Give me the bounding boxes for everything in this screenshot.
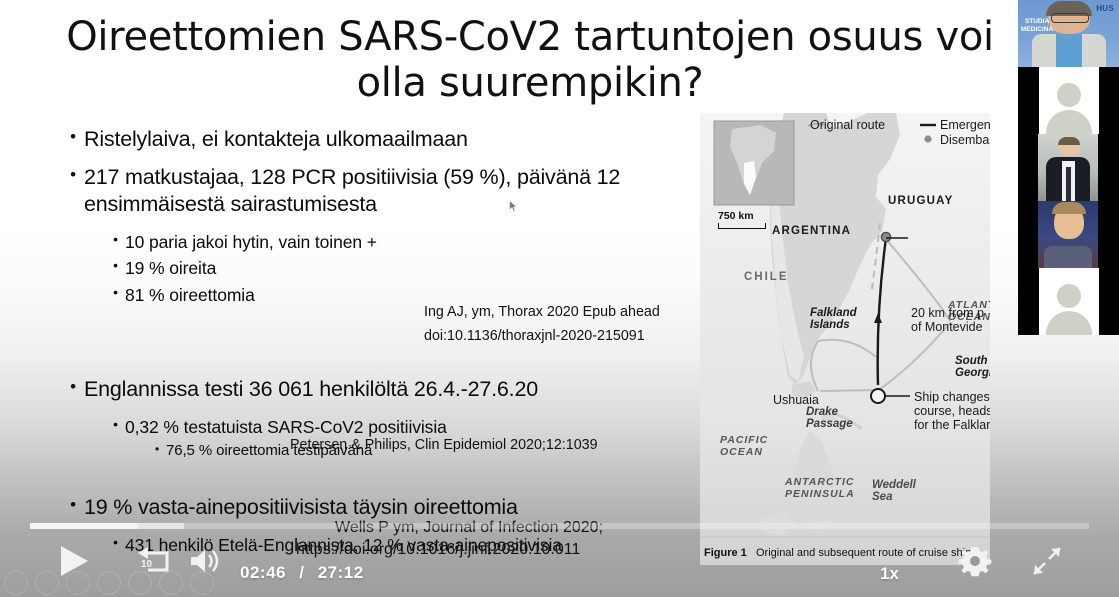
pointer-tool-icon[interactable] bbox=[4, 571, 28, 595]
rewind-seconds-label: 10 bbox=[141, 559, 152, 570]
settings-gear-icon[interactable] bbox=[958, 544, 992, 583]
map-label-chile: CHILE bbox=[744, 271, 789, 283]
frame-tool-icon[interactable] bbox=[159, 571, 183, 595]
avatar bbox=[1039, 67, 1099, 134]
bullet-glyph: • bbox=[148, 440, 166, 463]
hus-logo: HUS bbox=[1096, 4, 1114, 13]
bullet-glyph: • bbox=[106, 229, 125, 255]
list-item: • 19 % oireita bbox=[106, 255, 702, 281]
list-item: • Englannissa testi 36 061 henkilöltä 26… bbox=[62, 376, 702, 403]
mouse-cursor-icon bbox=[509, 200, 518, 213]
current-time: 02:46 bbox=[240, 563, 286, 582]
list-item-label: 217 matkustajaa, 128 PCR positiivisia (5… bbox=[84, 164, 702, 218]
list-item: • 217 matkustajaa, 128 PCR positiivisia … bbox=[62, 164, 702, 218]
participant-tile-2[interactable] bbox=[1018, 67, 1119, 134]
participant-video-panel: STUDIAMEDICINA HUS bbox=[1018, 0, 1119, 335]
legend-original-route: Original route bbox=[810, 118, 885, 132]
more-tools-icon[interactable] bbox=[190, 571, 214, 595]
video-player-stage: Oireettomien SARS-CoV2 tartuntojen osuus… bbox=[0, 0, 1119, 597]
time-display: 02:46 / 27:12 bbox=[240, 563, 364, 583]
stamp-tool-icon[interactable] bbox=[97, 571, 121, 595]
presentation-slide: Oireettomien SARS-CoV2 tartuntojen osuus… bbox=[0, 0, 1119, 597]
total-duration: 27:12 bbox=[318, 563, 364, 582]
participant-tile-5[interactable] bbox=[1018, 268, 1119, 335]
avatar bbox=[1039, 268, 1099, 335]
map-label-falkland-islands: Falkland Islands bbox=[810, 307, 857, 331]
playback-speed-button[interactable]: 1x bbox=[880, 564, 899, 584]
map-label-drake-passage: Drake Passage bbox=[806, 406, 853, 430]
bullet-glyph: • bbox=[106, 282, 125, 308]
bullet-glyph: • bbox=[62, 164, 84, 218]
annotation-course-change: Ship changes course, heads for the Falkl… bbox=[914, 390, 990, 432]
played-range bbox=[30, 523, 138, 529]
map-label-antarctic-peninsula: ANTARCTIC PENINSULA bbox=[785, 476, 855, 500]
map-scale-bar: 750 km bbox=[718, 210, 766, 229]
seek-bar[interactable] bbox=[30, 523, 1089, 529]
citation-ing-line1: Ing AJ, ym, Thorax 2020 Epub ahead bbox=[424, 301, 660, 323]
map-label-ushuaia: Ushuaia bbox=[773, 393, 819, 407]
participant-tile-3[interactable] bbox=[1018, 134, 1119, 201]
list-item-label: Englannissa testi 36 061 henkilöltä 26.4… bbox=[84, 376, 538, 403]
scale-bar-line bbox=[718, 223, 766, 229]
player-controls-bar: 10 02:46 / 27:12 1x bbox=[0, 517, 1119, 597]
pen-tool-icon[interactable] bbox=[66, 571, 90, 595]
participant-tile-4[interactable] bbox=[1018, 201, 1119, 268]
list-item: • Ristelylaiva, ei kontakteja ulkomaailm… bbox=[62, 126, 702, 153]
map-label-uruguay: URUGUAY bbox=[888, 195, 954, 207]
legend-disembarkation: Disembar bbox=[940, 133, 990, 147]
avatar-body bbox=[1046, 311, 1092, 335]
avatar-head bbox=[1057, 83, 1081, 107]
fullscreen-button[interactable] bbox=[1032, 546, 1062, 581]
avatar-body bbox=[1046, 110, 1092, 134]
citation-ing-line2: doi:10.1136/thoraxjnl-2020-215091 bbox=[424, 325, 645, 347]
cursor-tool-icon[interactable] bbox=[35, 571, 59, 595]
bullet-glyph: • bbox=[106, 255, 125, 281]
bullet-glyph: • bbox=[106, 414, 125, 440]
speaker-video-tile[interactable]: STUDIAMEDICINA HUS bbox=[1018, 0, 1119, 67]
list-item-label: 10 paria jakoi hytin, vain toinen + bbox=[125, 229, 377, 255]
list-item-label: 81 % oireettomia bbox=[125, 282, 255, 308]
list-item-label: 19 % oireita bbox=[125, 255, 216, 281]
map-label-south-georgia: South Georgia bbox=[955, 355, 990, 379]
annotation-toolbar[interactable] bbox=[4, 571, 214, 595]
list-item-label: Ristelylaiva, ei kontakteja ulkomaailmaa… bbox=[84, 126, 468, 153]
bullet-glyph: • bbox=[62, 376, 84, 403]
map-label-pacific-ocean: PACIFIC OCEAN bbox=[720, 434, 768, 458]
page-title: Oireettomien SARS-CoV2 tartuntojen osuus… bbox=[60, 14, 1000, 107]
bullet-glyph: • bbox=[62, 126, 84, 153]
map-label-weddell-sea: Weddell Sea bbox=[872, 479, 916, 503]
legend-emergency-route: Emergenc bbox=[940, 118, 990, 132]
time-separator: / bbox=[299, 563, 304, 582]
citation-petersen: Petersen & Philips, Clin Epidemiol 2020;… bbox=[290, 434, 598, 456]
map-scale-label: 750 km bbox=[718, 210, 766, 222]
annotation-montevideo-distance: 20 km from p of Montevide bbox=[911, 306, 984, 334]
studia-medicina-overlay: STUDIAMEDICINA bbox=[1021, 18, 1053, 34]
map-label-argentina: ARGENTINA bbox=[772, 225, 851, 237]
zoom-tool-icon[interactable] bbox=[128, 571, 152, 595]
avatar-head bbox=[1057, 284, 1081, 308]
cruise-route-map-figure: 750 km Original route Emergenc Disembar … bbox=[700, 113, 990, 565]
list-item: • 10 paria jakoi hytin, vain toinen + bbox=[106, 229, 702, 255]
